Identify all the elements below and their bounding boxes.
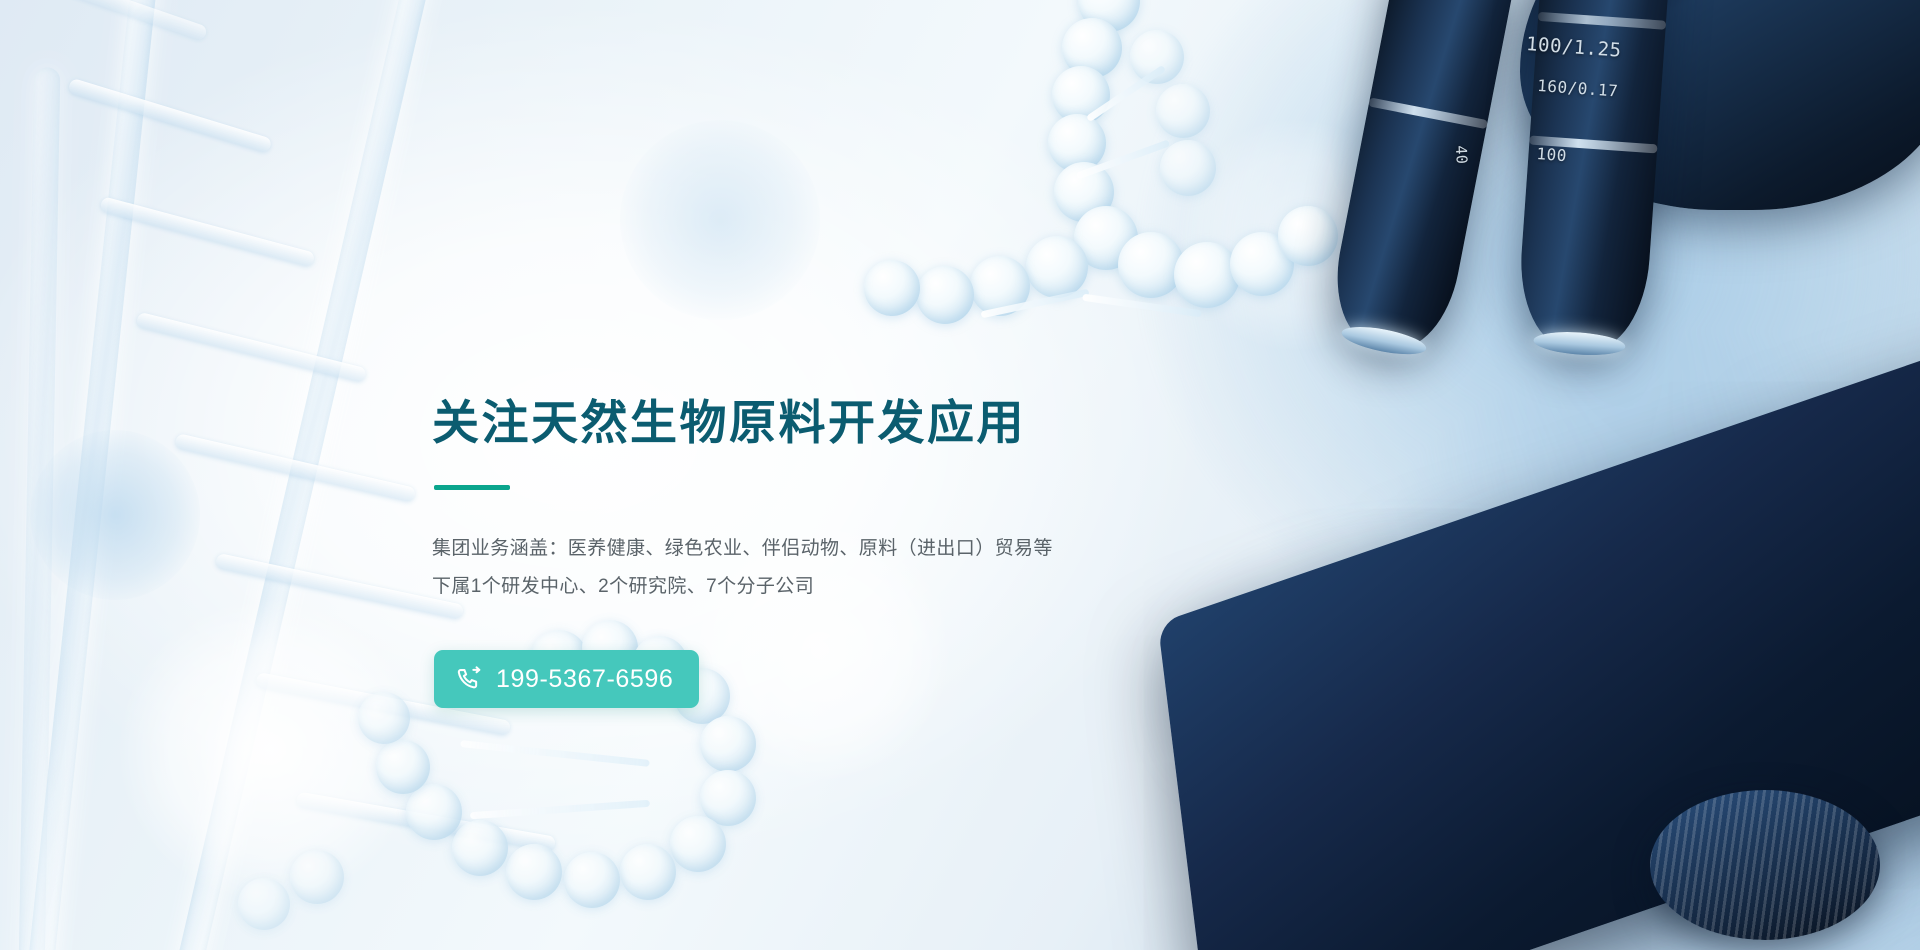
title-divider bbox=[434, 485, 510, 490]
phone-cta-button[interactable]: 199-5367-6596 bbox=[434, 650, 699, 708]
objective-label-40: 40 bbox=[1452, 145, 1471, 165]
hero-content: 关注天然生物原料开发应用 集团业务涵盖：医养健康、绿色农业、伴侣动物、原料（进出… bbox=[432, 0, 1192, 950]
objective-label-100-1-25: 100/1.25 bbox=[1525, 33, 1622, 62]
microscope-focus-knob bbox=[1650, 790, 1880, 940]
phone-number-label: 199-5367-6596 bbox=[496, 665, 673, 694]
description-line-2: 下属1个研发中心、2个研究院、7个分子公司 bbox=[432, 568, 1152, 606]
page-title: 关注天然生物原料开发应用 bbox=[432, 396, 1026, 450]
phone-outgoing-icon bbox=[456, 666, 483, 693]
objective-label-100: 100 bbox=[1536, 144, 1568, 165]
objective-label-160-0-17: 160/0.17 bbox=[1537, 76, 1619, 101]
microscope-objective-100x: 100/1.25 160/0.17 100 bbox=[1515, 0, 1673, 354]
microscope-objective-40x: 40 bbox=[1324, 0, 1516, 358]
microscope-icon: 40 100/1.25 160/0.17 100 bbox=[1200, 0, 1920, 950]
description-line-1: 集团业务涵盖：医养健康、绿色农业、伴侣动物、原料（进出口）贸易等 bbox=[432, 530, 1152, 568]
hero-banner: 40 100/1.25 160/0.17 100 关注天然生物原料开发应用 集团… bbox=[0, 0, 1920, 950]
hero-description: 集团业务涵盖：医养健康、绿色农业、伴侣动物、原料（进出口）贸易等 下属1个研发中… bbox=[432, 530, 1152, 606]
